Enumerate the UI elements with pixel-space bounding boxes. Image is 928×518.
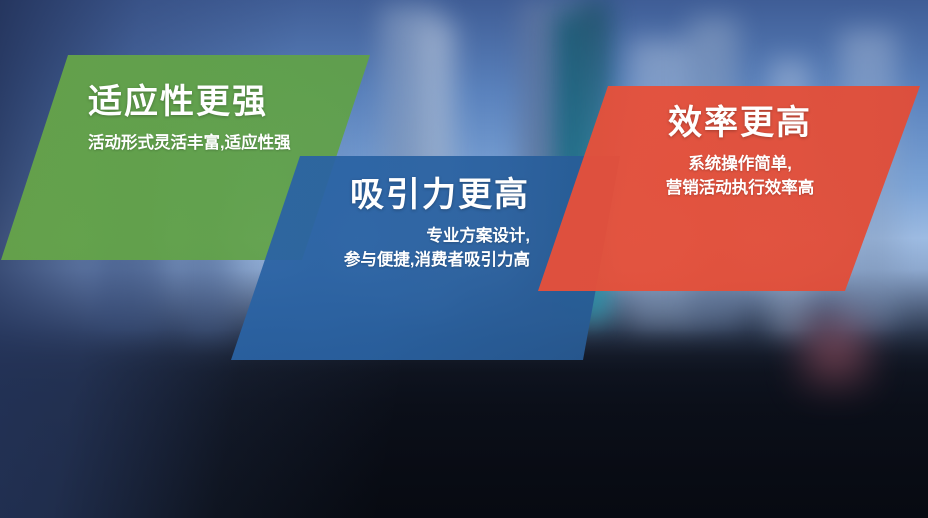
attractiveness-title: 吸引力更高 — [220, 178, 530, 214]
attractiveness-subtitle-line-1: 专业方案设计, — [220, 224, 530, 249]
efficiency-subtitle-line-2: 营销活动执行效率高 — [600, 176, 880, 201]
attractiveness-subtitle: 专业方案设计, 参与便捷,消费者吸引力高 — [220, 224, 530, 274]
efficiency-subtitle: 系统操作简单, 营销活动执行效率高 — [600, 152, 880, 202]
feature-card-efficiency[interactable]: 效率更高 系统操作简单, 营销活动执行效率高 — [520, 70, 928, 310]
efficiency-subtitle-line-1: 系统操作简单, — [600, 152, 880, 177]
adaptability-title: 适应性更强 — [88, 85, 291, 121]
efficiency-title: 效率更高 — [600, 106, 880, 142]
attractiveness-subtitle-line-2: 参与便捷,消费者吸引力高 — [220, 248, 530, 273]
attractiveness-text-block: 吸引力更高 专业方案设计, 参与便捷,消费者吸引力高 — [220, 178, 530, 273]
feature-banner: 适应性更强 活动形式灵活丰富,适应性强 吸引力更高 专业方案设计, 参与便捷,消… — [0, 0, 928, 518]
efficiency-text-block: 效率更高 系统操作简单, 营销活动执行效率高 — [600, 106, 880, 201]
background-light-glow — [790, 300, 880, 400]
